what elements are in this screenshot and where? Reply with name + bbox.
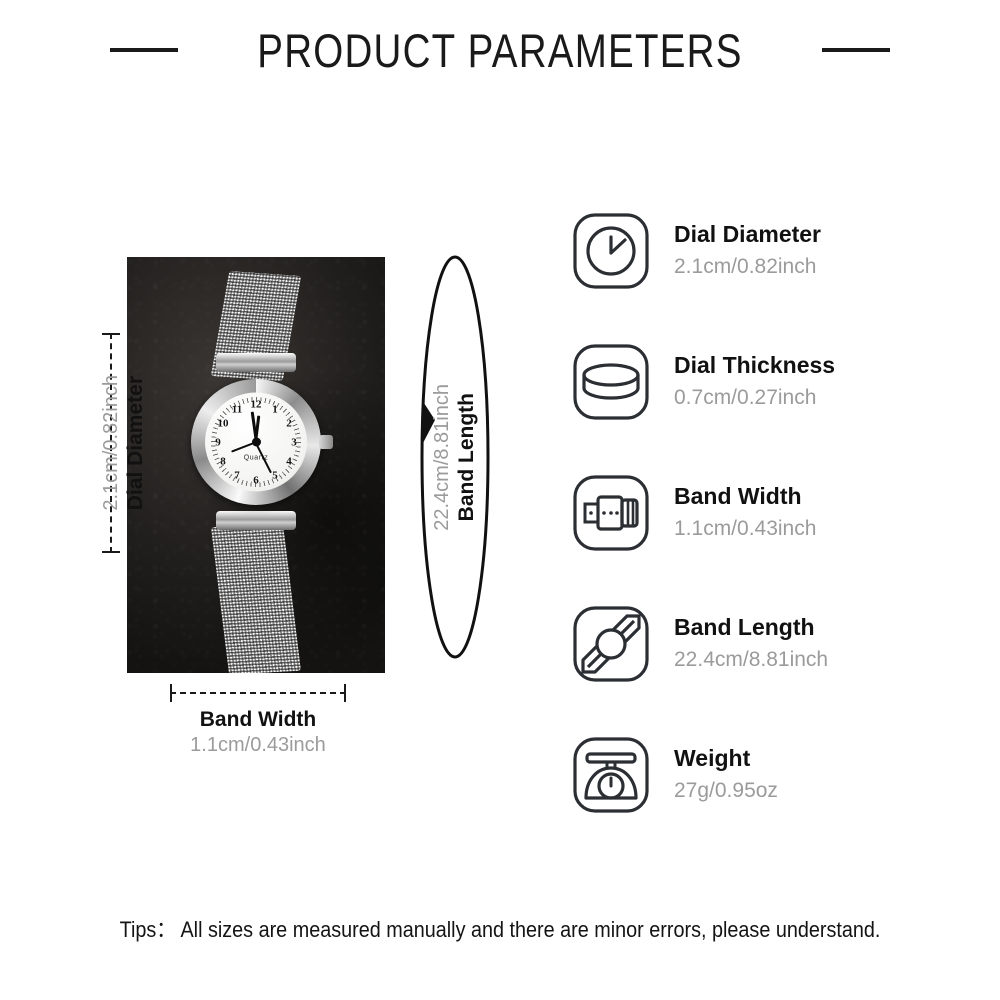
- band-length-icon: [570, 603, 652, 685]
- spec-text-dial-diameter: Dial Diameter 2.1cm/0.82inch: [674, 220, 821, 280]
- dial-numeral-11: 11: [229, 402, 245, 416]
- band-length-loop-value: 22.4cm/8.81inch: [431, 384, 454, 531]
- spec-row-dial-diameter: Dial Diameter 2.1cm/0.82inch: [570, 185, 970, 316]
- spec-value-dial-thickness: 0.7cm/0.27inch: [674, 384, 835, 411]
- dial-center-cap: [252, 438, 261, 447]
- dial-diameter-dimension-label: Dial Diameter: [124, 376, 148, 510]
- band-width-cap-left: [170, 684, 172, 702]
- spec-row-dial-thickness: Dial Thickness 0.7cm/0.27inch: [570, 316, 970, 447]
- band-width-dimension: Band Width 1.1cm/0.43inch: [170, 692, 346, 693]
- page-header: PRODUCT PARAMETERS: [0, 0, 1000, 100]
- dial-diameter-icon: [570, 210, 652, 292]
- band-width-dimension-labels: Band Width 1.1cm/0.43inch: [98, 708, 418, 757]
- product-illustration: 12 1 2 3 4 5 6 7 8 9 10 11 Quartz: [0, 180, 540, 800]
- dial-numeral-12: 12: [248, 397, 264, 411]
- spec-value-band-width: 1.1cm/0.43inch: [674, 515, 816, 542]
- spec-label-band-width: Band Width: [674, 482, 816, 511]
- product-photo: 12 1 2 3 4 5 6 7 8 9 10 11 Quartz: [127, 257, 385, 673]
- watch-lug-bottom: [216, 511, 296, 530]
- band-width-icon: [570, 472, 652, 554]
- watch-lug-top: [216, 353, 296, 372]
- spec-value-weight: 27g/0.95oz: [674, 777, 778, 804]
- dial-numeral-4: 4: [281, 454, 297, 468]
- footer-tips: Tips： All sizes are measured manually an…: [50, 912, 950, 944]
- band-length-loop-labels: Band Length 22.4cm/8.81inch: [431, 307, 479, 607]
- spec-value-band-length: 22.4cm/8.81inch: [674, 646, 828, 673]
- weight-icon: [570, 734, 652, 816]
- header-right-dash-icon: [822, 48, 890, 52]
- watch-case: 12 1 2 3 4 5 6 7 8 9 10 11 Quartz: [191, 379, 321, 505]
- spec-text-band-length: Band Length 22.4cm/8.81inch: [674, 613, 828, 673]
- band-width-dimension-value: 1.1cm/0.43inch: [98, 734, 418, 757]
- page-title: PRODUCT PARAMETERS: [257, 23, 742, 78]
- band-length-loop: Band Length 22.4cm/8.81inch: [415, 250, 495, 664]
- band-length-loop-label: Band Length: [455, 393, 479, 521]
- dial-numeral-8: 8: [215, 454, 231, 468]
- spec-text-band-width: Band Width 1.1cm/0.43inch: [674, 482, 816, 542]
- dial-numeral-7: 7: [229, 468, 245, 482]
- spec-text-dial-thickness: Dial Thickness 0.7cm/0.27inch: [674, 351, 835, 411]
- dial-numeral-6: 6: [248, 473, 264, 487]
- dial-thickness-icon: [570, 341, 652, 423]
- dial-numeral-9: 9: [210, 435, 226, 449]
- spec-label-weight: Weight: [674, 744, 778, 773]
- spec-row-band-length: Band Length 22.4cm/8.81inch: [570, 578, 970, 709]
- dial-numeral-2: 2: [281, 416, 297, 430]
- dial-numeral-3: 3: [286, 435, 302, 449]
- band-width-dimension-label: Band Width: [98, 708, 418, 732]
- band-width-cap-right: [344, 684, 346, 702]
- spec-list: Dial Diameter 2.1cm/0.82inch Dial Thickn…: [570, 185, 970, 840]
- dial-diameter-dimension-labels: Dial Diameter 2.1cm/0.82inch: [100, 333, 148, 553]
- spec-text-weight: Weight 27g/0.95oz: [674, 744, 778, 804]
- header-left-dash-icon: [110, 48, 178, 52]
- dial-diameter-dimension: Dial Diameter 2.1cm/0.82inch: [110, 333, 111, 553]
- spec-label-dial-diameter: Dial Diameter: [674, 220, 821, 249]
- spec-row-weight: Weight 27g/0.95oz: [570, 709, 970, 840]
- band-width-dimension-line: [170, 692, 346, 694]
- spec-value-dial-diameter: 2.1cm/0.82inch: [674, 253, 821, 280]
- spec-row-band-width: Band Width 1.1cm/0.43inch: [570, 447, 970, 578]
- spec-label-band-length: Band Length: [674, 613, 828, 642]
- watch-dial: 12 1 2 3 4 5 6 7 8 9 10 11 Quartz: [205, 393, 307, 492]
- dial-numeral-10: 10: [215, 416, 231, 430]
- dial-diameter-dimension-value: 2.1cm/0.82inch: [100, 375, 123, 511]
- dial-numeral-1: 1: [267, 402, 283, 416]
- spec-label-dial-thickness: Dial Thickness: [674, 351, 835, 380]
- watch-crown: [319, 435, 333, 449]
